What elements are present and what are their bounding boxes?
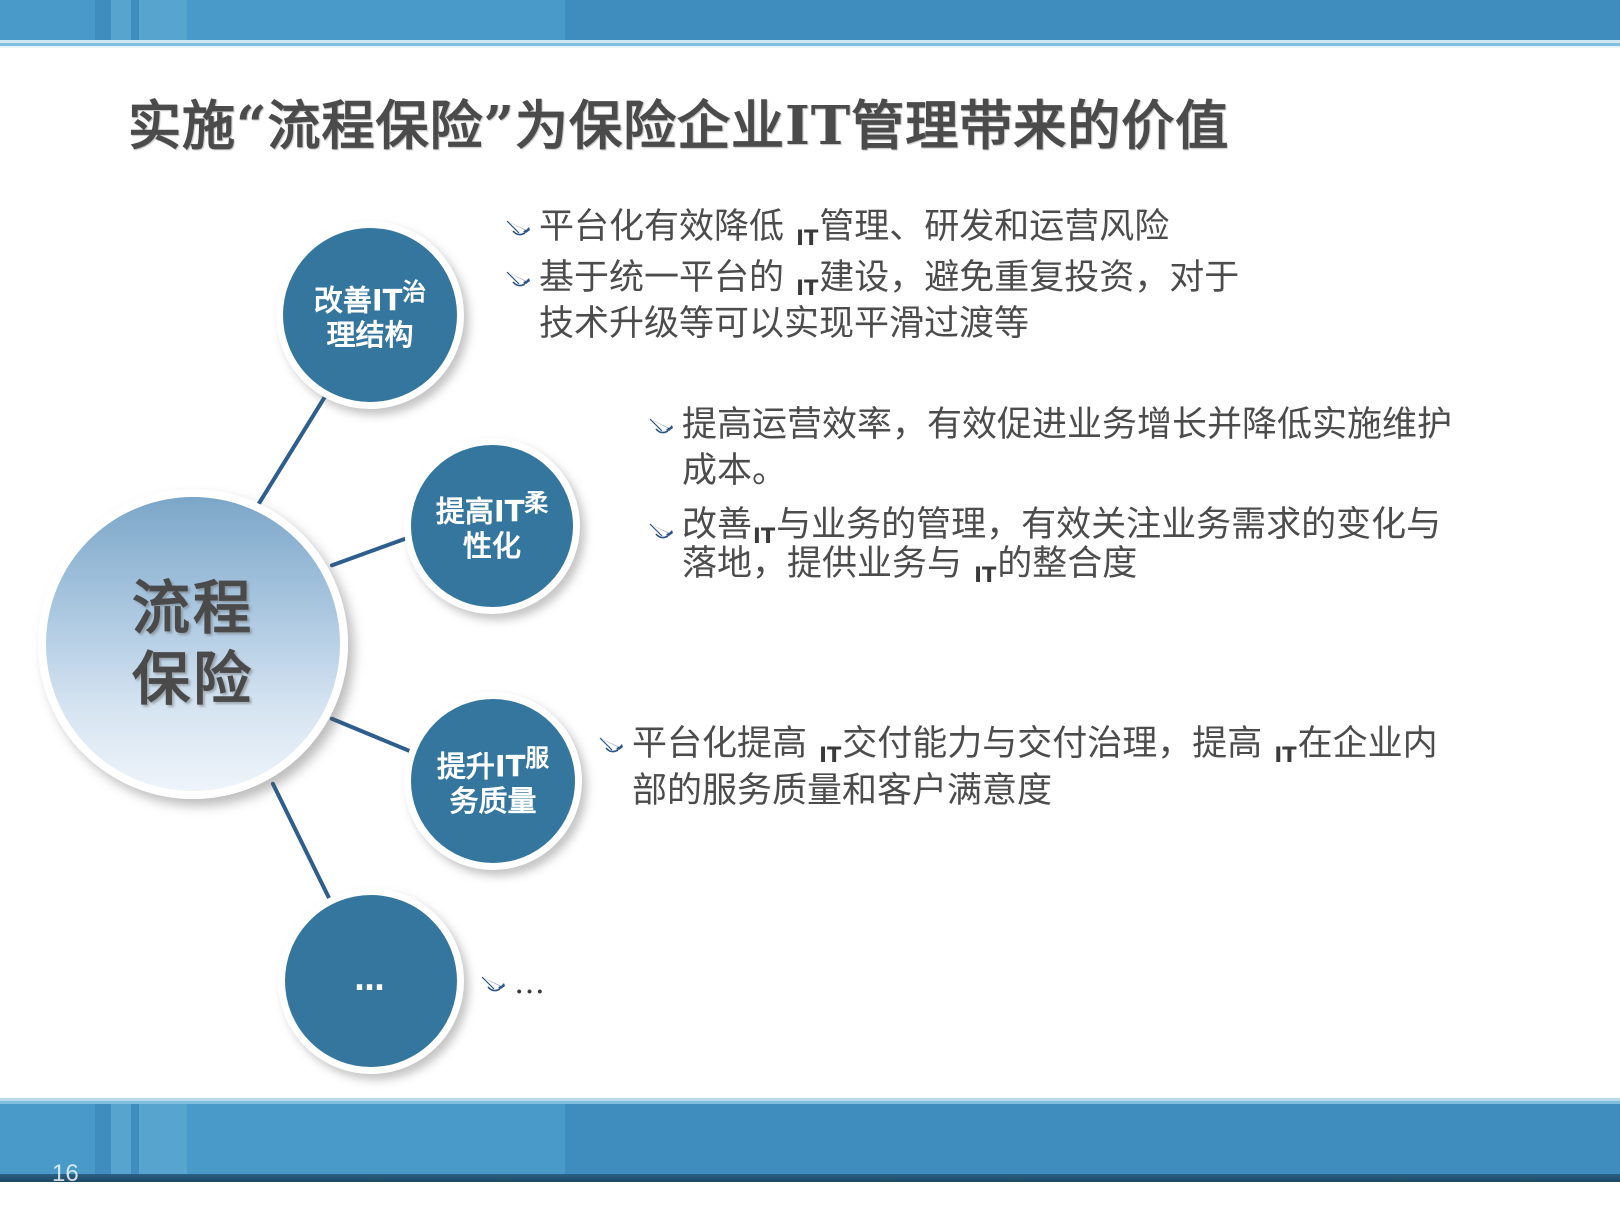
node-2-prefix: 提高 — [436, 495, 494, 529]
inline-text: … — [514, 965, 545, 1001]
bullet-group-governance: 平台化有效降低 IT管理、研发和运营风险基于统一平台的 IT建设，避免重复投资，… — [505, 205, 1245, 351]
node-core-label-line2: 保险 — [132, 644, 254, 715]
node-3-sup: 服 — [525, 744, 549, 772]
bullet-pen-icon — [505, 205, 539, 239]
bullet-text: 平台化提高 IT交付能力与交付治理，提高 IT在企业内部的服务质量和客户满意度 — [632, 722, 1468, 815]
page-number: 16 — [52, 1160, 79, 1188]
bullet-pen-icon — [505, 256, 539, 290]
inline-it-token: IT — [1273, 743, 1297, 767]
bullet-item: 改善IT与业务的管理，有效关注业务需求的变化与落地，提供业务与 IT的整合度 — [648, 508, 1468, 586]
node-it-governance-label: 改善IT治 理结构 — [314, 278, 426, 352]
node-more-ellipsis[interactable]: … — [278, 888, 464, 1074]
node-2-it: IT — [494, 495, 525, 529]
bullet-pen-icon — [648, 403, 682, 437]
bullet-pen-icon — [648, 508, 682, 542]
header-stripe-2 — [111, 0, 131, 40]
node-1-prefix: 改善 — [314, 284, 372, 318]
bullet-group-flexibility: 提高运营效率，有效促进业务增长并降低实施维护成本。改善IT与业务的管理，有效关注… — [648, 403, 1468, 600]
bullet-text: 平台化有效降低 IT管理、研发和运营风险 — [539, 205, 1245, 252]
bullet-group-more: … — [480, 965, 680, 1002]
bullet-text: … — [514, 965, 680, 1002]
core-to-node-3 — [329, 716, 413, 754]
inline-it-token: IT — [795, 226, 819, 250]
bullet-pen-icon — [598, 722, 632, 756]
node-it-governance[interactable]: 改善IT治 理结构 — [276, 221, 464, 409]
bullet-pen-icon — [480, 965, 514, 995]
inline-it-token: IT — [973, 563, 997, 587]
node-it-flexibility[interactable]: 提高IT柔 性化 — [404, 438, 580, 614]
footer-stripe-4 — [139, 1104, 187, 1182]
bullet-text: 基于统一平台的 IT建设，避免重复投资，对于技术升级等可以实现平滑过渡等 — [539, 256, 1245, 347]
node-2-sup: 柔 — [524, 489, 548, 517]
node-core-label: 流程 保险 — [132, 573, 254, 715]
footer-band: 16 — [0, 1104, 1620, 1182]
node-1-rest: 理结构 — [326, 318, 413, 352]
header-stripe-3 — [131, 0, 139, 40]
core-to-node-2 — [329, 535, 410, 568]
inline-it-token: IT — [818, 743, 842, 767]
node-it-service-quality-label: 提升IT服 务质量 — [437, 744, 549, 818]
node-1-sup: 治 — [402, 278, 426, 306]
footer-edge-line-3 — [0, 1174, 1620, 1182]
node-it-flexibility-label: 提高IT柔 性化 — [436, 489, 548, 563]
bullet-group-service-quality: 平台化提高 IT交付能力与交付治理，提高 IT在企业内部的服务质量和客户满意度 — [598, 722, 1468, 815]
inline-text: 提高运营效率，有效促进业务增长并降低实施维护成本。 — [682, 405, 1452, 491]
node-3-prefix: 提升 — [437, 750, 495, 784]
bullet-item: 提高运营效率，有效促进业务增长并降低实施维护成本。 — [648, 403, 1468, 494]
header-edge-line-3 — [0, 46, 1620, 48]
inline-text: 平台化提高 — [632, 724, 818, 764]
node-more-label: … — [355, 963, 388, 998]
inline-text: 的整合度 — [997, 544, 1137, 584]
bullet-item: 平台化有效降低 IT管理、研发和运营风险 — [505, 205, 1245, 252]
bullet-text: 提高运营效率，有效促进业务增长并降低实施维护成本。 — [682, 403, 1468, 494]
bullet-item: 基于统一平台的 IT建设，避免重复投资，对于技术升级等可以实现平滑过渡等 — [505, 256, 1245, 347]
node-2-rest: 性化 — [463, 529, 521, 563]
inline-text: 基于统一平台的 — [539, 258, 795, 298]
bullet-item: 平台化提高 IT交付能力与交付治理，提高 IT在企业内部的服务质量和客户满意度 — [598, 722, 1468, 815]
footer-stripe-3 — [131, 1104, 139, 1182]
node-it-service-quality[interactable]: 提升IT服 务质量 — [404, 692, 582, 870]
header-stripe-1 — [95, 0, 111, 40]
node-3-it: IT — [495, 750, 526, 784]
core-to-node-1 — [256, 394, 327, 506]
footer-stripe-1 — [95, 1104, 111, 1182]
inline-text: 改善 — [682, 505, 752, 545]
bullet-text: 改善IT与业务的管理，有效关注业务需求的变化与落地，提供业务与 IT的整合度 — [682, 508, 1468, 586]
node-1-it: IT — [372, 284, 403, 318]
header-band — [0, 0, 1620, 40]
node-core-label-line1: 流程 — [132, 573, 254, 644]
header-band-right — [565, 0, 1620, 40]
slide-canvas: 实施“流程保险”为保险企业IT管理带来的价值 流程 保险 改善IT治 理结构 提… — [0, 0, 1620, 1215]
inline-text: 管理、研发和运营风险 — [819, 207, 1169, 247]
footer-stripe-2 — [111, 1104, 131, 1182]
inline-text: 交付能力与交付治理，提高 — [842, 724, 1273, 764]
inline-text: 平台化有效降低 — [539, 207, 795, 247]
header-stripe-4 — [139, 0, 187, 40]
core-to-node-4 — [270, 781, 332, 901]
footer-band-right — [565, 1104, 1620, 1182]
page-title: 实施“流程保险”为保险企业IT管理带来的价值 — [128, 84, 1488, 160]
node-core-process-insurance[interactable]: 流程 保险 — [38, 489, 348, 799]
bullet-item: … — [480, 965, 680, 1002]
inline-it-token: IT — [795, 276, 819, 300]
node-3-rest: 务质量 — [449, 784, 536, 818]
